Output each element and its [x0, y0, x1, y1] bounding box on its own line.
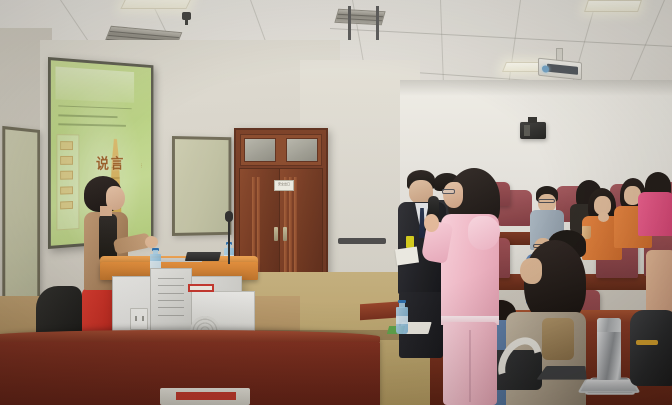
- backpack-strap-accent: [636, 340, 658, 345]
- trouser-seam: [469, 330, 471, 402]
- face: [520, 258, 542, 284]
- neck: [100, 206, 112, 216]
- eyeglasses: [538, 199, 555, 203]
- face: [443, 182, 463, 208]
- door-handle[interactable]: [283, 227, 287, 241]
- mousepad: [536, 366, 586, 380]
- slide-heading-text: 说言: [96, 153, 125, 173]
- slide-thumbnail: [60, 186, 73, 195]
- projector-vent: [547, 63, 579, 75]
- door-sign: 安全出口: [274, 180, 294, 191]
- bottle-label: [396, 316, 408, 325]
- ceiling-light-panel: [120, 0, 193, 9]
- gooseneck-microphone-stand: [228, 218, 230, 264]
- thermos-flask[interactable]: [597, 318, 621, 380]
- whiteboard-left: [2, 126, 40, 304]
- lectern-equipment-panel: [150, 268, 192, 332]
- side-table-leg: [376, 6, 379, 40]
- wall-speaker-bracket: [528, 117, 537, 123]
- foreground-desk-edge: [0, 330, 380, 342]
- hand: [145, 236, 158, 248]
- eyeglasses: [442, 189, 455, 194]
- backpack[interactable]: [630, 310, 672, 386]
- projector-lens: [542, 65, 549, 73]
- paper-sheet: [395, 247, 419, 266]
- slide-text-line: [58, 105, 131, 109]
- thermos-cap: [597, 318, 621, 332]
- transom-pane: [244, 138, 276, 162]
- transom-pane: [286, 138, 318, 162]
- lecture-hall-photograph: 说言 ··· 安全出口: [0, 0, 672, 405]
- slide-thumbnail: [60, 171, 73, 180]
- slide-vertical-text: ···: [139, 163, 144, 168]
- whiteboard-right: [172, 136, 231, 236]
- door-handle[interactable]: [274, 227, 278, 241]
- slide-text-line: [58, 114, 117, 117]
- slide-thumbnail: [60, 141, 73, 149]
- ceiling-light-panel: [584, 0, 642, 12]
- wall-shadow: [400, 80, 672, 96]
- door-transom: [240, 134, 322, 166]
- water-bottle[interactable]: [396, 300, 408, 334]
- wall-speaker-icon: [520, 122, 546, 139]
- ceiling-camera-icon: [182, 12, 191, 20]
- slide-thumbnail: [60, 156, 73, 164]
- slide-toolbar-region: [55, 66, 134, 103]
- slide-thumbnail: [60, 201, 73, 210]
- black-blouse: [99, 214, 117, 262]
- torso: [638, 192, 672, 236]
- laptop[interactable]: [185, 252, 221, 261]
- warning-label: [188, 284, 214, 292]
- side-table-leg: [348, 6, 351, 40]
- hand: [598, 212, 609, 222]
- slide-side-panel: [56, 135, 79, 231]
- gooseneck-microphone[interactable]: [225, 211, 233, 222]
- scarf: [542, 318, 574, 360]
- booklet-cover: [176, 392, 236, 400]
- side-table: [338, 238, 386, 244]
- hand: [424, 214, 439, 232]
- slide-text-line: [58, 123, 125, 126]
- power-outlet[interactable]: [130, 308, 148, 330]
